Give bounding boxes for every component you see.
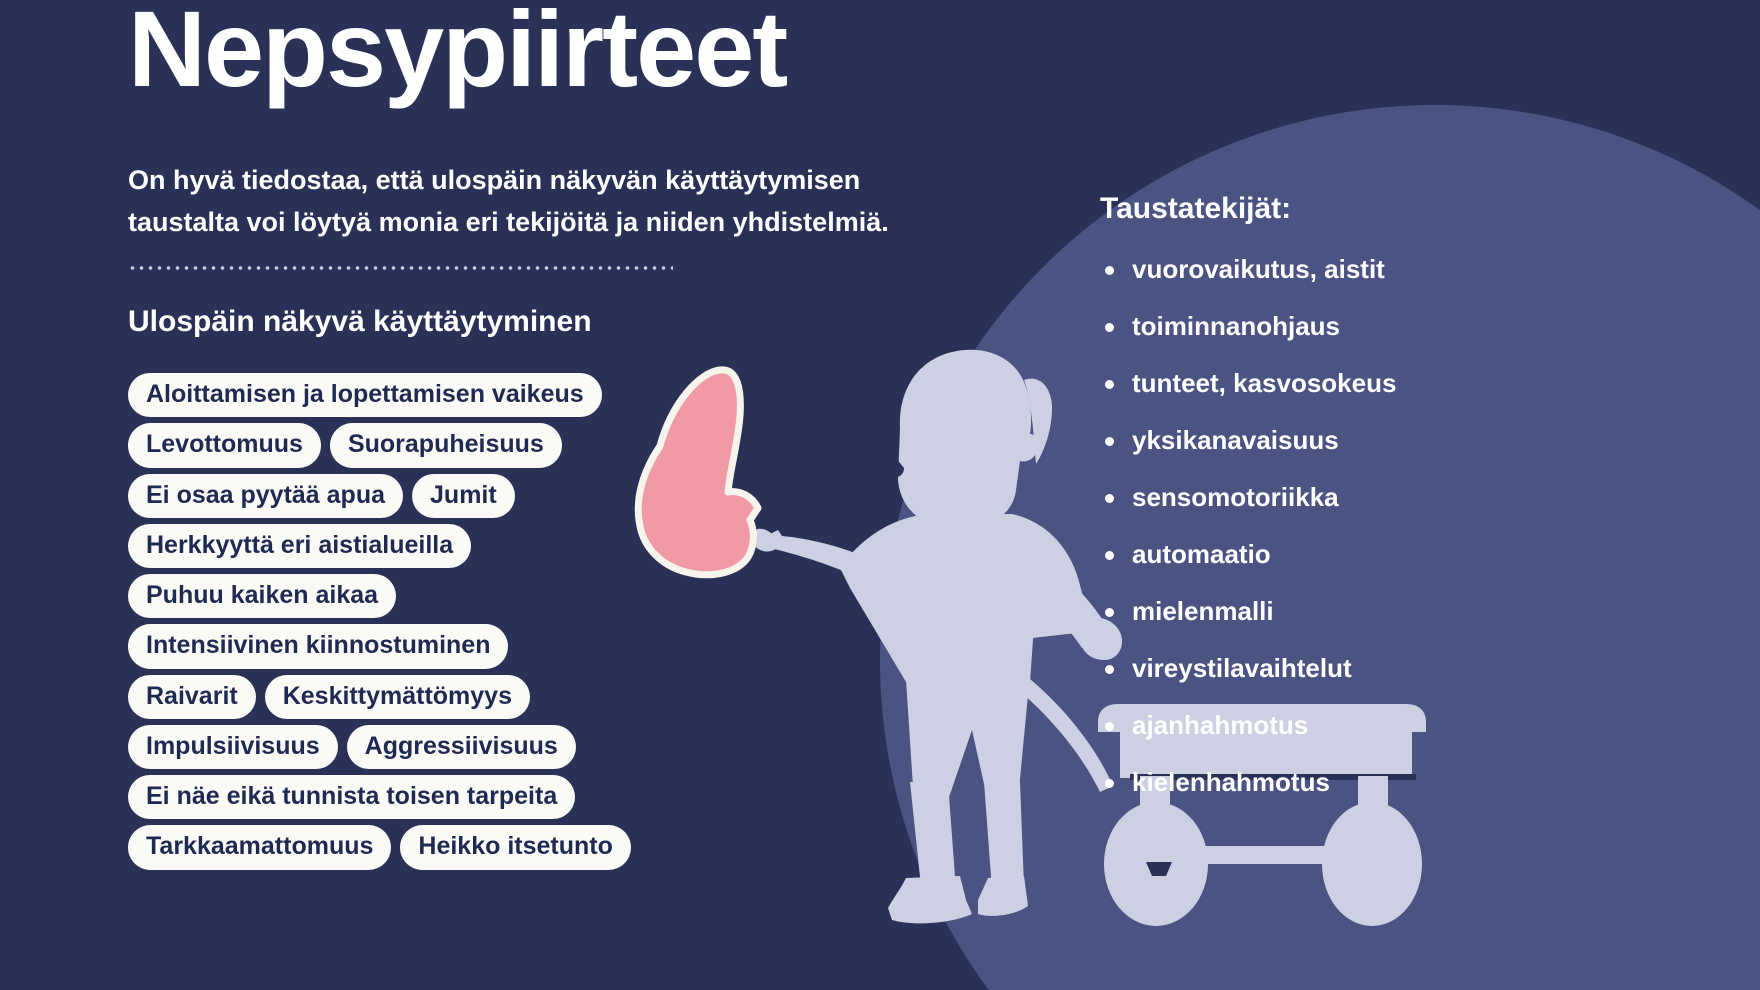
background-factor-item: kielenhahmotus — [1100, 767, 1570, 798]
behaviour-pill-row: Ei osaa pyytää apuaJumit — [128, 474, 748, 518]
background-factor-item: sensomotoriikka — [1100, 482, 1570, 513]
background-factor-label: vuorovaikutus, aistit — [1132, 254, 1385, 284]
bullet-icon — [1105, 665, 1114, 674]
background-factor-item: vuorovaikutus, aistit — [1100, 254, 1570, 285]
bullet-icon — [1105, 380, 1114, 389]
behaviour-pill-list: Aloittamisen ja lopettamisen vaikeusLevo… — [128, 373, 748, 870]
page-title: Nepsypiirteet — [128, 0, 786, 105]
background-factors-heading: Taustatekijät: — [1100, 192, 1570, 226]
behaviour-pill[interactable]: Heikko itsetunto — [400, 825, 630, 869]
behaviour-pill[interactable]: Ei osaa pyytää apua — [128, 474, 403, 518]
background-factor-item: yksikanavaisuus — [1100, 425, 1570, 456]
behaviour-pill-row: Ei näe eikä tunnista toisen tarpeita — [128, 775, 748, 819]
bullet-icon — [1105, 494, 1114, 503]
bullet-icon — [1105, 608, 1114, 617]
behaviour-pill[interactable]: Raivarit — [128, 675, 256, 719]
behaviour-pill[interactable]: Tarkkaamattomuus — [128, 825, 391, 869]
behaviour-pill[interactable]: Jumit — [412, 474, 515, 518]
behaviour-pill[interactable]: Impulsiivisuus — [128, 725, 338, 769]
background-factor-label: sensomotoriikka — [1132, 482, 1339, 512]
behaviour-pill[interactable]: Keskittymättömyys — [265, 675, 530, 719]
bullet-icon — [1105, 722, 1114, 731]
behaviour-pill-row: Intensiivinen kiinnostuminen — [128, 624, 748, 668]
bullet-icon — [1105, 551, 1114, 560]
background-factor-item: automaatio — [1100, 539, 1570, 570]
behaviour-pill-row: ImpulsiivisuusAggressiivisuus — [128, 725, 748, 769]
behaviour-pill[interactable]: Herkkyyttä eri aistialueilla — [128, 524, 471, 568]
behaviour-pill[interactable]: Ei näe eikä tunnista toisen tarpeita — [128, 775, 575, 819]
behaviour-pill[interactable]: Levottomuus — [128, 423, 321, 467]
behaviour-section-heading: Ulospäin näkyvä käyttäytyminen — [128, 305, 592, 339]
bullet-icon — [1105, 437, 1114, 446]
background-factor-label: yksikanavaisuus — [1132, 425, 1339, 455]
background-factor-label: automaatio — [1132, 539, 1271, 569]
infographic-poster: Nepsypiirteet On hyvä tiedostaa, että ul… — [0, 0, 1760, 990]
background-factor-label: mielenmalli — [1132, 596, 1274, 626]
background-factor-label: kielenhahmotus — [1132, 767, 1330, 797]
background-factors-list: vuorovaikutus, aistittoiminnanohjaustunt… — [1100, 254, 1570, 798]
background-factor-label: vireystilavaihtelut — [1132, 653, 1352, 683]
dotted-divider — [128, 265, 673, 271]
background-factor-item: toiminnanohjaus — [1100, 311, 1570, 342]
background-factors-section: Taustatekijät: vuorovaikutus, aistittoim… — [1100, 192, 1570, 824]
behaviour-pill[interactable]: Intensiivinen kiinnostuminen — [128, 624, 508, 668]
behaviour-pill[interactable]: Aggressiivisuus — [347, 725, 576, 769]
behaviour-pill-row: LevottomuusSuorapuheisuus — [128, 423, 748, 467]
background-factor-item: ajanhahmotus — [1100, 710, 1570, 741]
behaviour-pill-row: RaivaritKeskittymättömyys — [128, 675, 748, 719]
wagon-handle — [922, 622, 1113, 792]
background-factor-item: mielenmalli — [1100, 596, 1570, 627]
intro-paragraph: On hyvä tiedostaa, että ulospäin näkyvän… — [128, 160, 958, 244]
behaviour-pill[interactable]: Puhuu kaiken aikaa — [128, 574, 396, 618]
behaviour-pill[interactable]: Suorapuheisuus — [330, 423, 562, 467]
background-factor-item: vireystilavaihtelut — [1100, 653, 1570, 684]
background-factor-label: tunteet, kasvosokeus — [1132, 368, 1396, 398]
background-factor-item: tunteet, kasvosokeus — [1100, 368, 1570, 399]
bullet-icon — [1105, 266, 1114, 275]
behaviour-pill-row: TarkkaamattomuusHeikko itsetunto — [128, 825, 748, 869]
bullet-icon — [1105, 779, 1114, 788]
bullet-icon — [1105, 323, 1114, 332]
behaviour-pill[interactable]: Aloittamisen ja lopettamisen vaikeus — [128, 373, 602, 417]
behaviour-pill-row: Aloittamisen ja lopettamisen vaikeus — [128, 373, 748, 417]
behaviour-pill-row: Puhuu kaiken aikaa — [128, 574, 748, 618]
background-factor-label: toiminnanohjaus — [1132, 311, 1340, 341]
behaviour-pill-row: Herkkyyttä eri aistialueilla — [128, 524, 748, 568]
child-silhouette — [752, 350, 1122, 924]
background-factor-label: ajanhahmotus — [1132, 710, 1308, 740]
